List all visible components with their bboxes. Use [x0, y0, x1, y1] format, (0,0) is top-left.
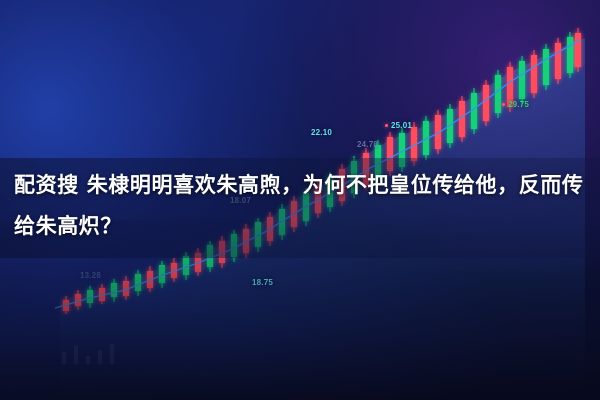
headline-body: 朱棣明明喜欢朱高煦，为何不把皇位传给他，反而传给朱高炽？	[14, 173, 584, 238]
screenshot-canvas: 29.75 25.01 24.78 22.10 18.07 18.75 13.2…	[0, 0, 600, 400]
headline-text: 配资搜 朱棣明明喜欢朱高煦，为何不把皇位传给他，反而传给朱高炽？	[14, 165, 590, 247]
brand-name: 配资搜	[14, 173, 79, 197]
